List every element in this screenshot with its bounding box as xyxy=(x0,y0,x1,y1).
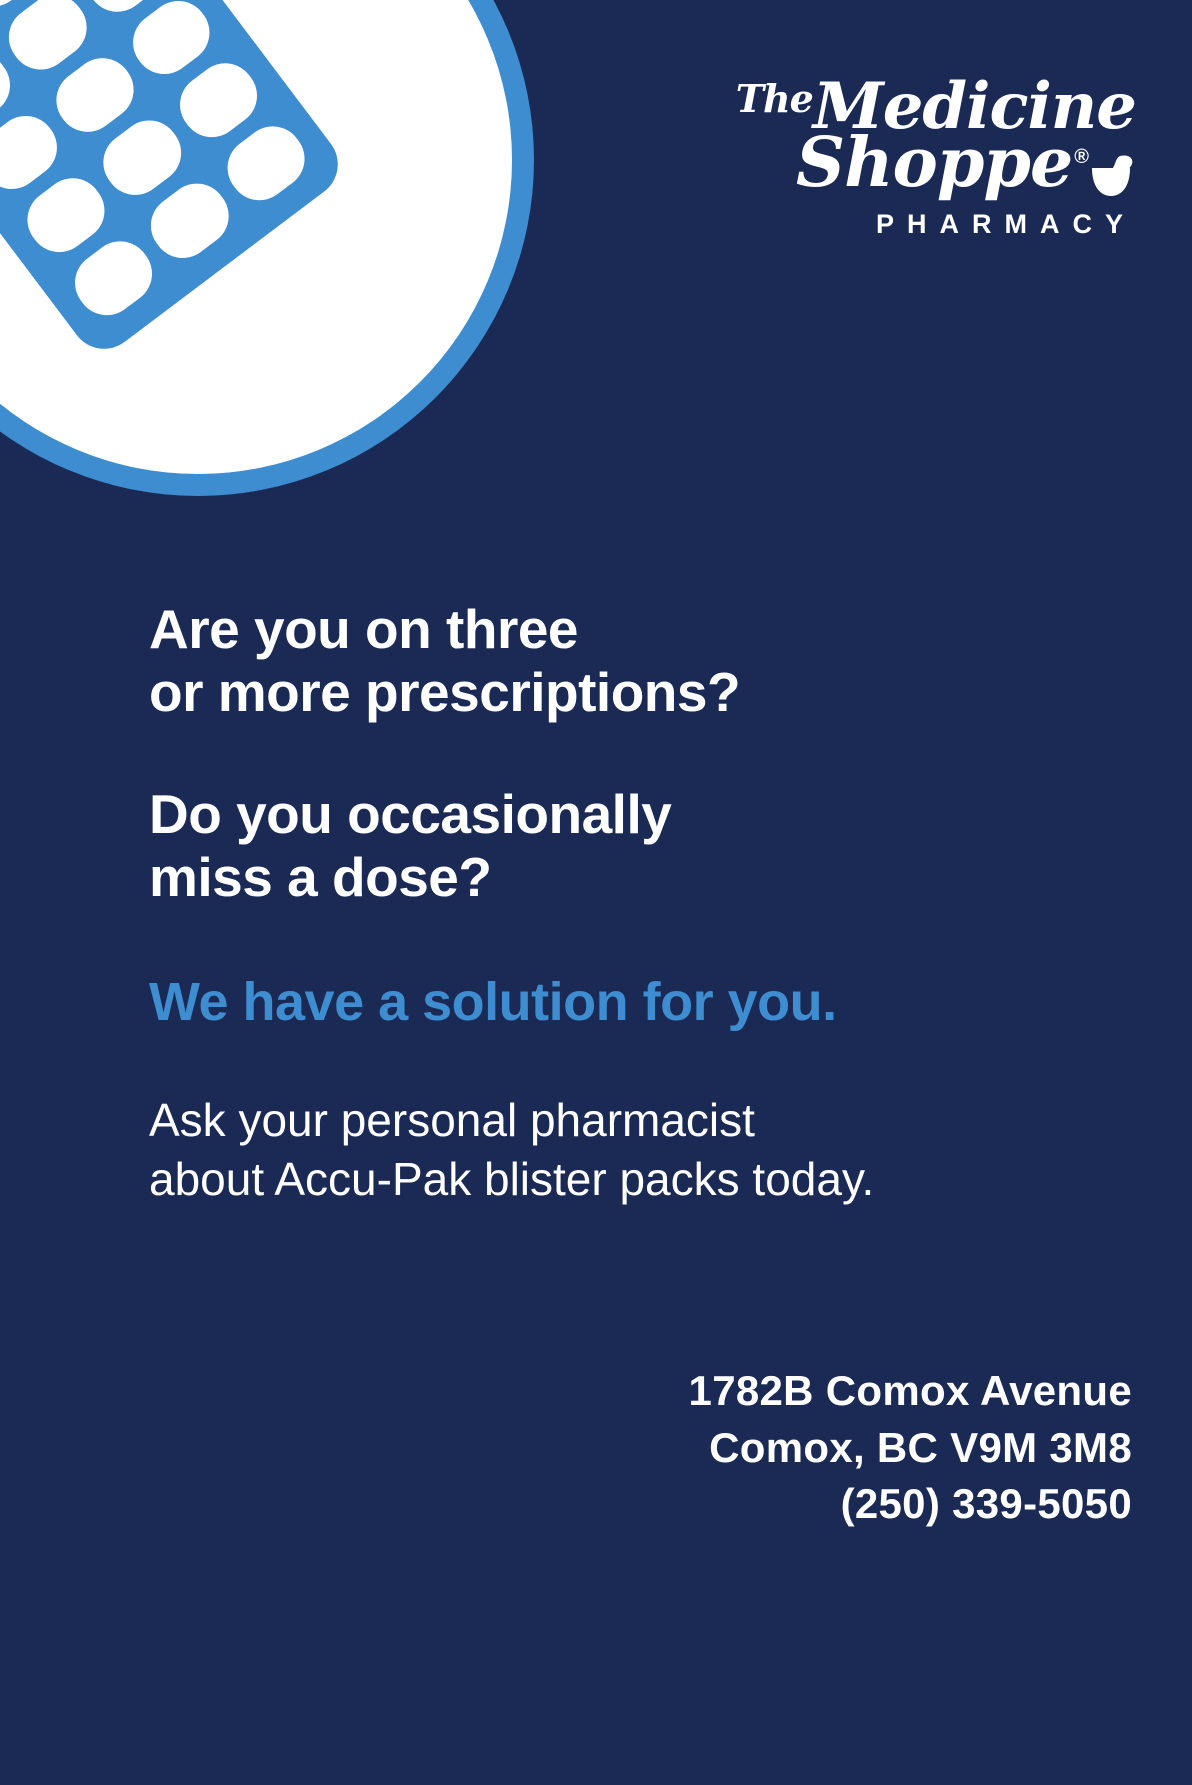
accent-solution-line: We have a solution for you. xyxy=(149,971,1109,1033)
poster: TheMedicine Shoppe® PHARMACY Are you on … xyxy=(0,0,1192,1785)
blister-pack-icon xyxy=(0,0,351,362)
logo-shoppe-word: Shoppe xyxy=(796,131,1072,196)
registered-trademark-icon: ® xyxy=(1074,148,1088,167)
headline-miss-dose: Do you occasionally miss a dose? xyxy=(149,783,1109,908)
address-block: 1782B Comox Avenue Comox, BC V9M 3M8 (25… xyxy=(689,1363,1132,1533)
badge-clip xyxy=(0,0,534,496)
body-copy: Ask your personal pharmacist about Accu-… xyxy=(149,1091,1109,1209)
logo-the-word: The xyxy=(736,76,813,121)
blister-pack-badge xyxy=(0,0,534,496)
logo-pharmacy-tagline: PHARMACY xyxy=(706,209,1136,240)
main-content: Are you on three or more prescriptions? … xyxy=(149,598,1109,1209)
address-phone[interactable]: (250) 339-5050 xyxy=(689,1476,1132,1533)
logo-line-two: Shoppe® xyxy=(706,131,1136,196)
address-street: 1782B Comox Avenue xyxy=(689,1363,1132,1420)
headline-prescriptions: Are you on three or more prescriptions? xyxy=(149,598,1109,723)
mortar-and-pestle-icon xyxy=(1090,147,1136,197)
brand-logo: TheMedicine Shoppe® PHARMACY xyxy=(706,78,1136,240)
address-city-region: Comox, BC V9M 3M8 xyxy=(689,1420,1132,1477)
